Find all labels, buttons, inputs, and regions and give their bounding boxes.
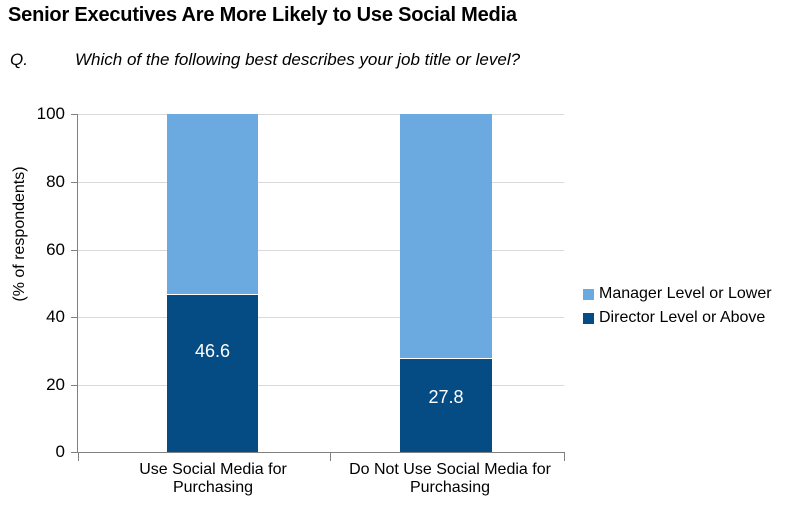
bar-group-do-not-use-social-media[interactable]: 27.8	[400, 114, 492, 452]
question-text: Which of the following best describes yo…	[75, 50, 520, 69]
legend-label: Manager Level or Lower	[599, 285, 772, 303]
x-axis-label-do-not-use-social-media: Do Not Use Social Media for Purchasing	[334, 461, 566, 498]
y-tick-mark-100	[71, 114, 78, 115]
x-tick-mark-left	[78, 453, 79, 461]
page-title: Senior Executives Are More Likely to Use…	[8, 4, 517, 27]
bar-segment-manager-level-or-lower[interactable]	[400, 114, 492, 358]
question-row: Q.Which of the following best describes …	[10, 50, 520, 70]
legend: Manager Level or Lower Director Level or…	[583, 282, 772, 330]
bar-value-label: 46.6	[167, 341, 258, 362]
question-prefix-label: Q.	[10, 50, 75, 70]
y-tick-mark-20	[71, 385, 78, 386]
y-tick-mark-80	[71, 182, 78, 183]
y-tick-mark-60	[71, 250, 78, 251]
legend-item-manager-level-or-lower[interactable]: Manager Level or Lower	[583, 282, 772, 306]
y-tick-label-0: 0	[5, 443, 65, 460]
bar-group-use-social-media[interactable]: 46.6	[167, 114, 258, 452]
x-tick-mark-right	[564, 453, 565, 461]
bar-segment-director-level-or-above[interactable]: 27.8	[400, 359, 492, 452]
bar-segment-director-level-or-above[interactable]: 46.6	[167, 295, 258, 452]
x-tick-mark-middle	[330, 453, 331, 461]
plot-area: 46.6 27.8	[78, 114, 564, 452]
x-axis-label-use-social-media: Use Social Media for Purchasing	[118, 461, 308, 498]
legend-swatch-icon	[583, 289, 594, 300]
x-axis-line	[78, 452, 565, 453]
legend-swatch-icon	[583, 313, 594, 324]
legend-item-director-level-or-above[interactable]: Director Level or Above	[583, 306, 772, 330]
legend-label: Director Level or Above	[599, 309, 765, 327]
y-tick-mark-0	[71, 452, 78, 453]
bar-segment-manager-level-or-lower[interactable]	[167, 114, 258, 294]
y-tick-mark-40	[71, 317, 78, 318]
y-tick-label-20: 20	[5, 376, 65, 393]
bar-value-label: 27.8	[400, 387, 492, 408]
y-axis-title: (% of respondents)	[11, 119, 29, 349]
